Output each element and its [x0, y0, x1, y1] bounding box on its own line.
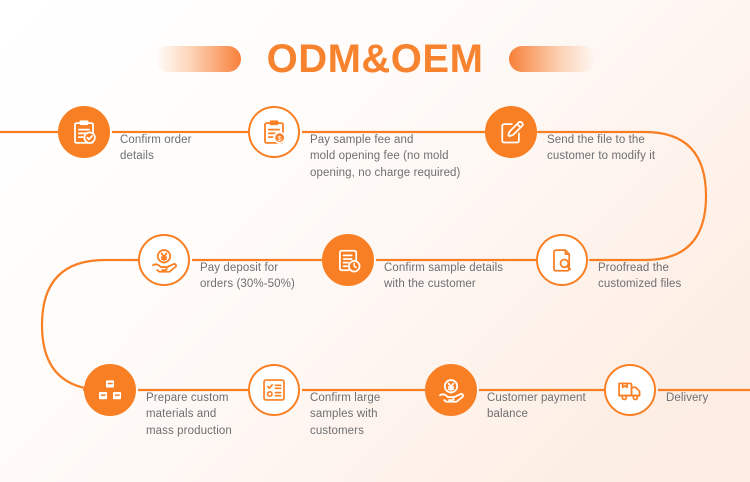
step-7[interactable]: Prepare custom materials and mass produc…: [84, 364, 232, 439]
step-5[interactable]: Confirm sample details with the customer: [322, 234, 503, 293]
step-9[interactable]: Customer payment balance: [425, 364, 586, 423]
document-search-icon: [548, 246, 577, 275]
step-3-label: Send the file to the customer to modify …: [547, 132, 655, 165]
step-8[interactable]: Confirm large samples with customers: [248, 364, 380, 439]
step-9-node[interactable]: [425, 364, 477, 416]
step-1-label: Confirm order details: [120, 132, 192, 165]
step-5-node[interactable]: [322, 234, 374, 286]
step-2[interactable]: $ Pay sample fee and mold opening fee (n…: [248, 106, 461, 181]
step-10-label: Delivery: [666, 390, 708, 406]
step-4-node[interactable]: [138, 234, 190, 286]
hand-yen-coin-icon: [149, 245, 179, 275]
step-8-node[interactable]: [248, 364, 300, 416]
step-4-label: Pay deposit for orders (30%-50%): [200, 260, 295, 293]
step-7-label: Prepare custom materials and mass produc…: [146, 390, 232, 439]
step-8-label: Confirm large samples with customers: [310, 390, 380, 439]
checklist-icon: [260, 376, 288, 404]
odm-oem-process-infographic: ODM&OEM: [0, 0, 750, 482]
delivery-truck-icon: [616, 376, 645, 405]
stacked-boxes-icon: [96, 376, 124, 404]
step-1[interactable]: Confirm order details: [58, 106, 192, 165]
step-10-node[interactable]: [604, 364, 656, 416]
step-9-label: Customer payment balance: [487, 390, 586, 423]
step-1-node[interactable]: [58, 106, 110, 158]
step-10[interactable]: Delivery: [604, 364, 708, 416]
step-3[interactable]: Send the file to the customer to modify …: [485, 106, 655, 165]
step-6-node[interactable]: [536, 234, 588, 286]
clipboard-money-icon: $: [259, 117, 289, 147]
step-2-node[interactable]: $: [248, 106, 300, 158]
step-2-label: Pay sample fee and mold opening fee (no …: [310, 132, 461, 181]
clipboard-check-icon: [69, 117, 99, 147]
step-7-node[interactable]: [84, 364, 136, 416]
document-edit-icon: [497, 118, 525, 146]
step-5-label: Confirm sample details with the customer: [384, 260, 503, 293]
step-4[interactable]: Pay deposit for orders (30%-50%): [138, 234, 295, 293]
hand-yen-coin-icon: [436, 375, 466, 405]
document-clock-icon: [334, 246, 363, 275]
step-6-label: Proofread the customized files: [598, 260, 681, 293]
step-3-node[interactable]: [485, 106, 537, 158]
step-6[interactable]: Proofread the customized files: [536, 234, 681, 293]
